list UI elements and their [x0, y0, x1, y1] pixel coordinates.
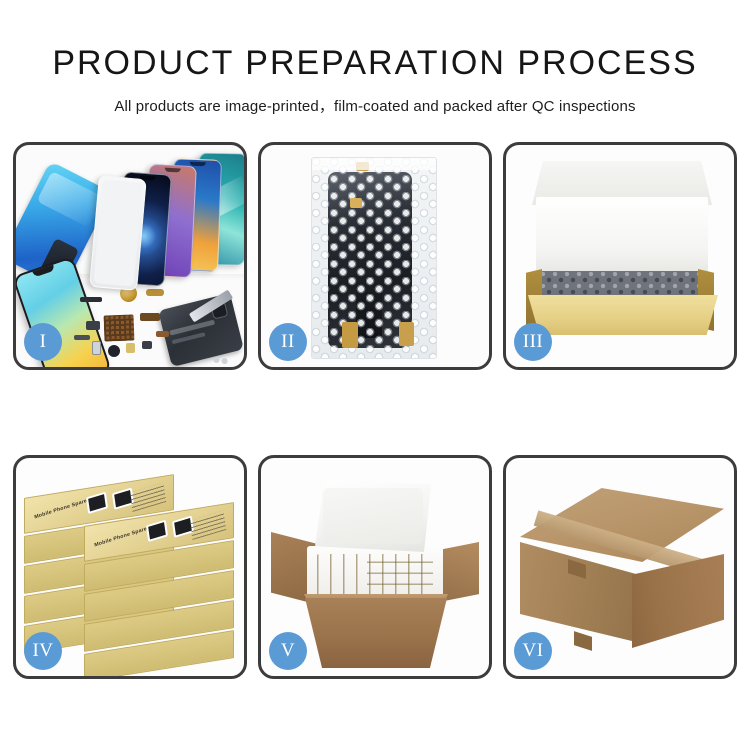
white-foam-sheet [536, 197, 708, 275]
part-copper-strip-icon [140, 313, 160, 321]
box-window-1 [86, 492, 108, 514]
part-camera-lens-icon [108, 345, 120, 357]
chip-grid-icon [104, 314, 135, 341]
bubble-texture [312, 158, 436, 358]
kraft-boxes-inside-row2 [367, 552, 433, 596]
phone-back-housing-icon [158, 293, 244, 367]
process-step-3: III [503, 142, 737, 370]
page-title: PRODUCT PREPARATION PROCESS [0, 44, 750, 83]
carton-right-face [632, 554, 724, 648]
process-step-grid: I II [13, 142, 737, 679]
step-badge: IV [24, 632, 62, 670]
box-spec-lines [130, 483, 166, 512]
part-bracket-icon [142, 341, 152, 349]
gold-tape-3 [350, 198, 362, 208]
box-window-1 [146, 520, 168, 542]
step-badge: III [514, 323, 552, 361]
gold-tape-1 [342, 322, 358, 348]
step-badge: VI [514, 632, 552, 670]
phone-fan-group [86, 155, 244, 285]
part-gold-clip-icon [126, 343, 135, 353]
process-step-6: VI [503, 455, 737, 679]
part-antenna-icon [156, 331, 169, 337]
page-subtitle: All products are image-printed，film-coat… [0, 95, 750, 116]
header: PRODUCT PREPARATION PROCESS All products… [0, 0, 750, 116]
part-gold-contact-icon [146, 289, 164, 296]
product-preparation-infographic: PRODUCT PREPARATION PROCESS All products… [0, 0, 750, 750]
step-badge: V [269, 632, 307, 670]
bubble-wrap-padding [540, 271, 704, 299]
part-speaker-mesh-icon [74, 335, 90, 340]
step-badge: II [269, 323, 307, 361]
process-step-1: I [13, 142, 247, 370]
part-module-icon [86, 321, 100, 330]
carton-front-panel [305, 598, 447, 668]
step-badge: I [24, 323, 62, 361]
box-spec-lines [190, 511, 226, 540]
part-flex-cable-icon [80, 297, 102, 302]
process-step-2: II [258, 142, 492, 370]
bag-seal [312, 158, 436, 170]
screws-icon [212, 355, 230, 365]
bubble-wrap-bag-icon [311, 157, 437, 359]
screen-protector-icon [89, 175, 147, 291]
styrofoam-lid [315, 480, 431, 552]
process-step-5: V [258, 455, 492, 679]
box-front-panel [528, 295, 718, 335]
process-step-4: Mobile Phone Spare Parts Mobile Phone Sp… [13, 455, 247, 679]
part-sim-tray-icon [92, 341, 101, 355]
carton-tab-lower [574, 631, 592, 651]
gold-tape-2 [399, 322, 414, 346]
